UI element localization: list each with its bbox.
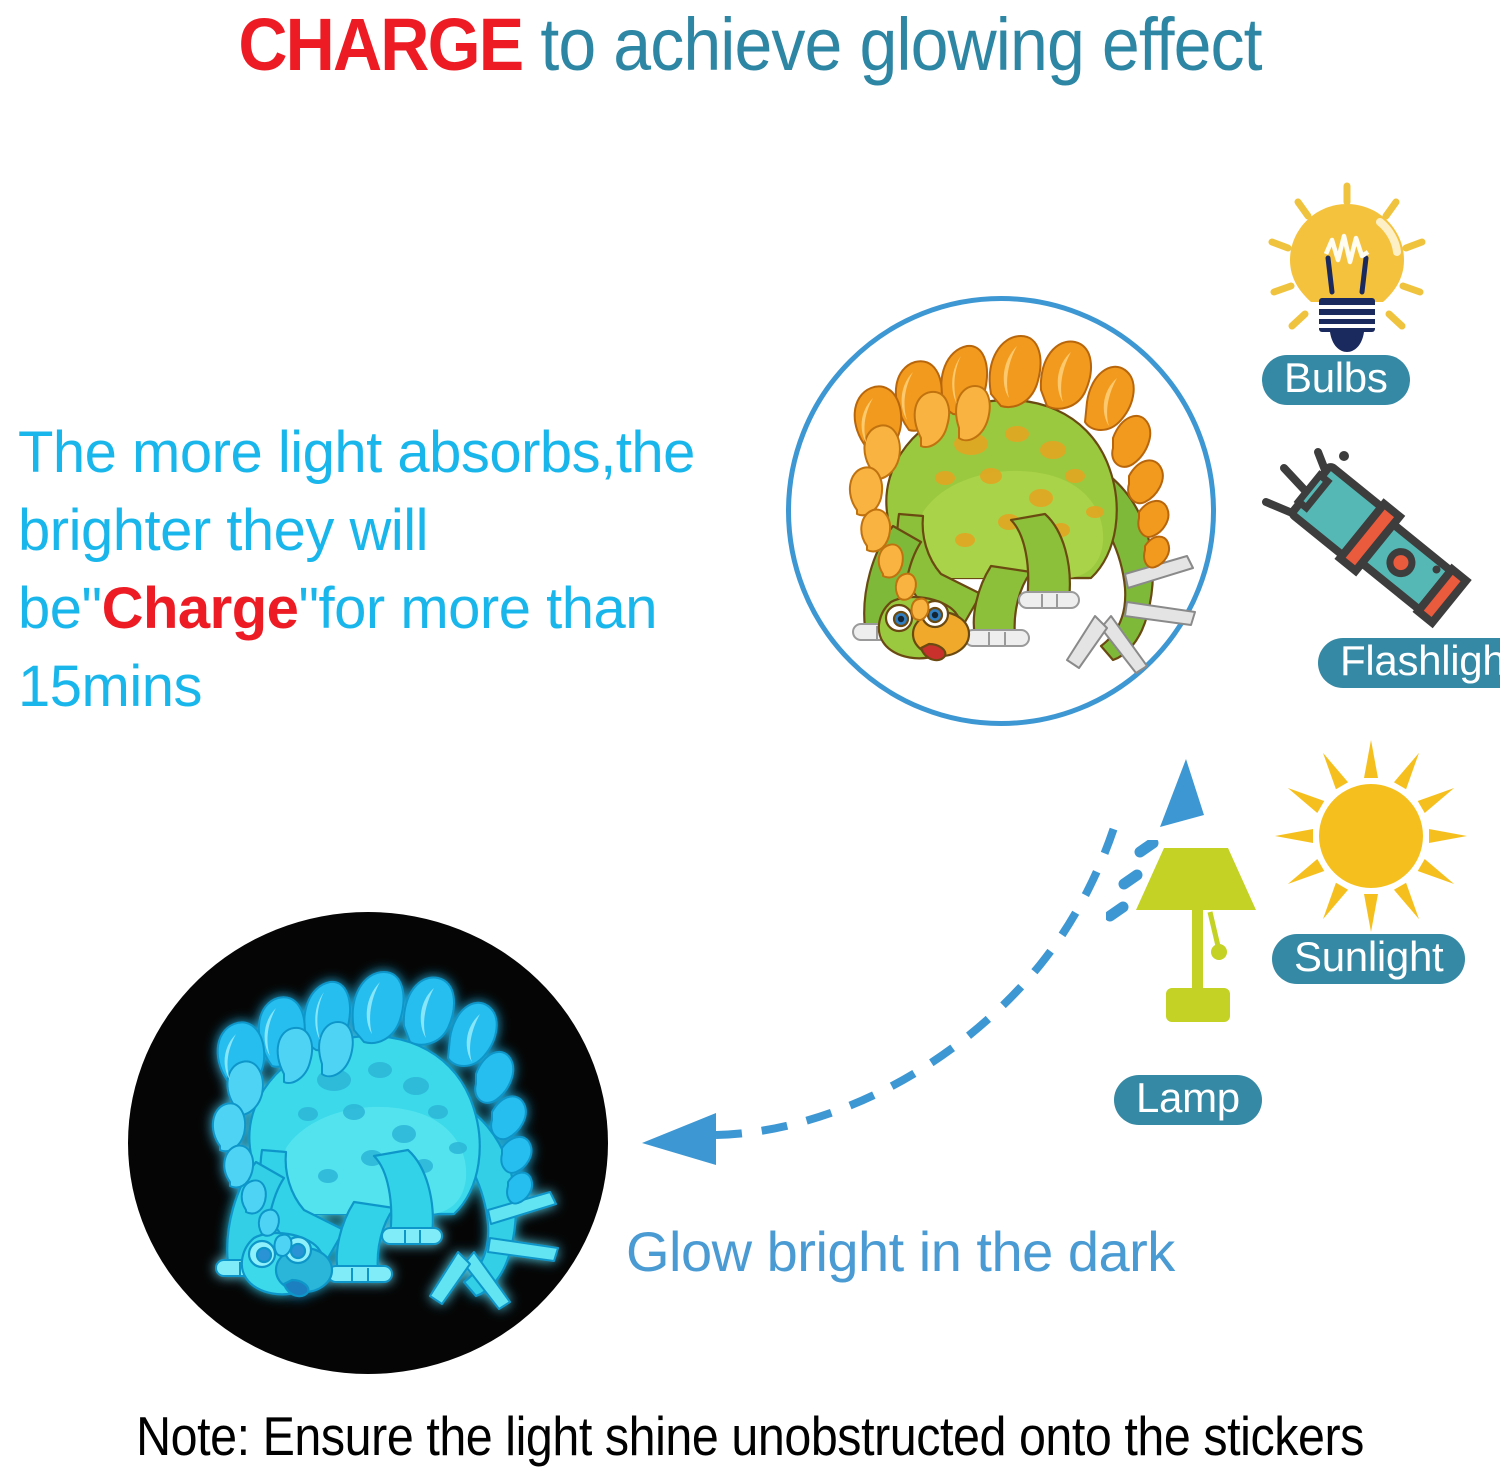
night-sticker-circle bbox=[128, 912, 608, 1374]
badge-lamp[interactable]: Lamp bbox=[1114, 1075, 1262, 1125]
flashlight-icon bbox=[1258, 444, 1493, 634]
badge-bulbs[interactable]: Bulbs bbox=[1262, 355, 1410, 405]
badge-flashlight[interactable]: Flashlight bbox=[1318, 638, 1500, 688]
green-stegosaurus-icon bbox=[795, 316, 1215, 716]
lead-paragraph-highlight: Charge bbox=[102, 576, 299, 641]
infographic-page: CHARGE to achieve glowing effect The mor… bbox=[0, 0, 1500, 1480]
title-highlight: CHARGE bbox=[238, 3, 522, 86]
desk-lamp-icon bbox=[1106, 840, 1296, 1075]
page-title: CHARGE to achieve glowing effect bbox=[60, 2, 1440, 87]
light-source-lamp[interactable] bbox=[1096, 840, 1316, 1090]
glowing-stegosaurus-icon bbox=[158, 952, 588, 1342]
lead-paragraph: The more light absorbs,the brighter they… bbox=[18, 414, 758, 726]
glow-caption: Glow bright in the dark bbox=[626, 1219, 1175, 1284]
bottom-note: Note: Ensure the light shine unobstructe… bbox=[90, 1404, 1410, 1468]
lightbulb-icon bbox=[1262, 180, 1432, 355]
title-rest: to achieve glowing effect bbox=[522, 3, 1261, 86]
